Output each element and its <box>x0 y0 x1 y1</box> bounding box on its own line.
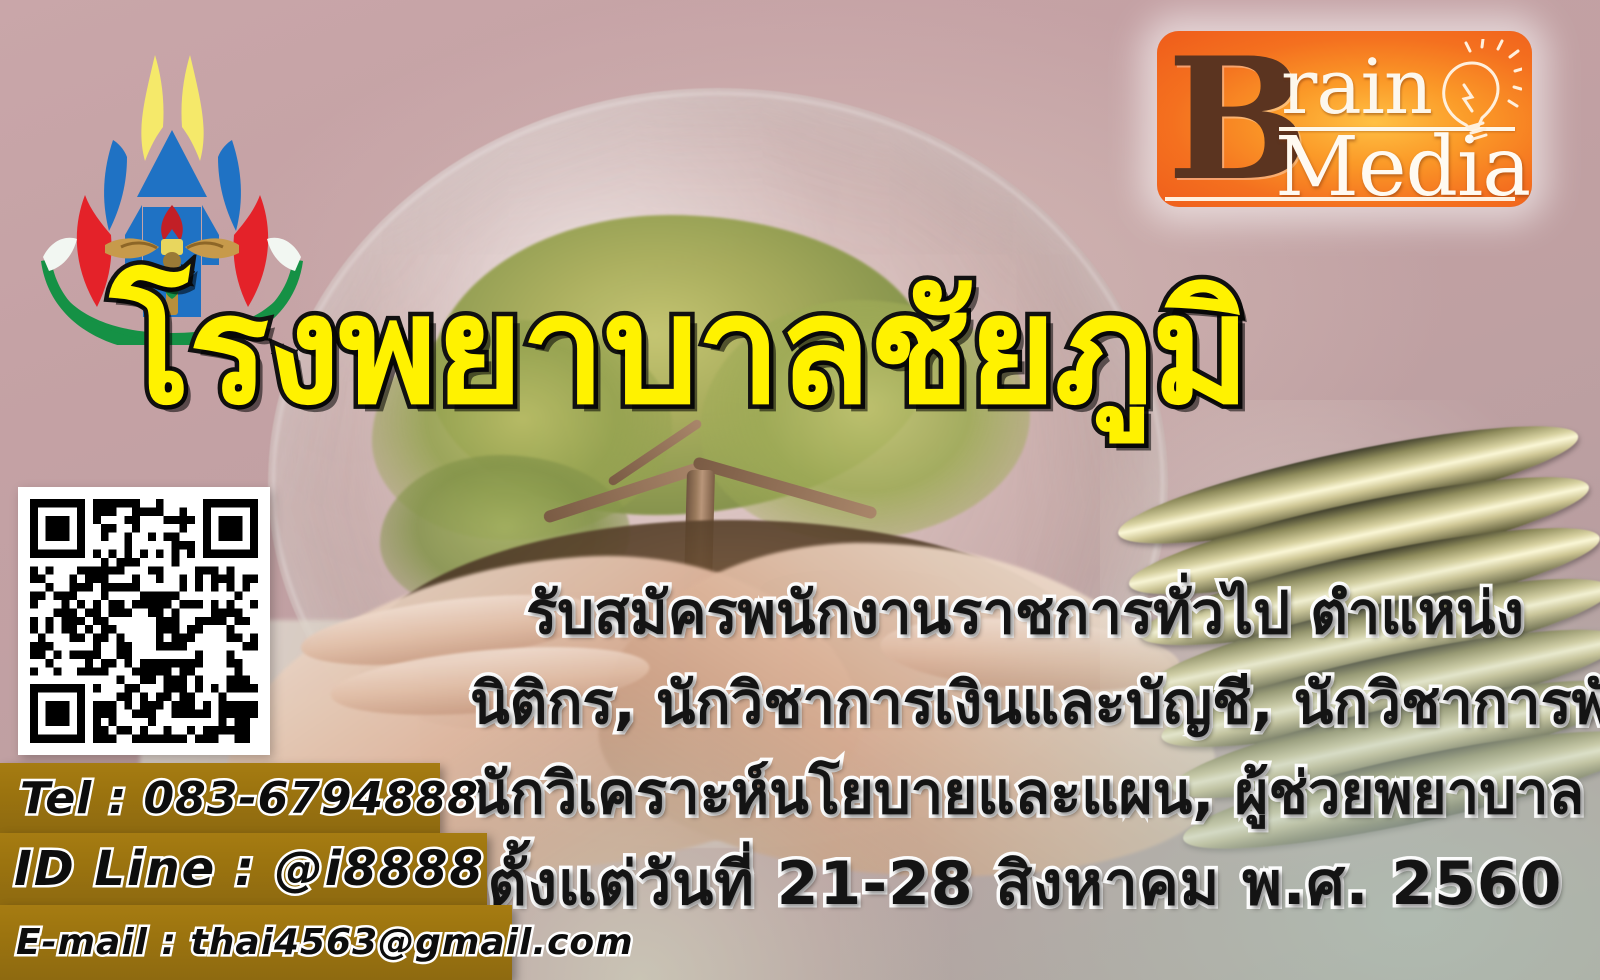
contact-bar-line-id[interactable]: ID Line : @i8888 <box>0 833 487 905</box>
brand-underline-rule <box>1165 197 1515 201</box>
announcement-line-2: นิติกร, นักวิชาการเงินและบัญชี, นักวิชาก… <box>470 658 1580 748</box>
announcement-line-4: ตั้งแต่วันที่ 21-28 สิงหาคม พ.ศ. 2560 <box>470 838 1580 930</box>
qr-code[interactable] <box>18 487 270 755</box>
announcement-line-1: รับสมัครพนักงานราชการทั่วไป ตำแหน่ง <box>470 568 1580 658</box>
brain-media-logo[interactable]: B rain Media <box>1157 31 1532 207</box>
qr-code-canvas <box>30 499 258 743</box>
contact-bar-email[interactable]: E-mail : thai4563@gmail.com <box>0 905 512 980</box>
contact-bar-telephone[interactable]: Tel : 083-6794888 <box>0 763 440 833</box>
announcement-line-3: นักวิเคราะห์นโยบายและแผน, ผู้ช่วยพยาบาล <box>470 748 1580 838</box>
email-text: E-mail : thai4563@gmail.com <box>16 922 634 963</box>
poster-canvas: B rain Media <box>0 0 1600 980</box>
lightbulb-icon <box>1414 39 1522 143</box>
telephone-text: Tel : 083-6794888 <box>20 773 479 824</box>
page-title: โรงพยาบาลชัยภูมิ <box>110 276 1510 426</box>
line-id-text: ID Line : @i8888 <box>14 841 485 897</box>
announcement-block: รับสมัครพนักงานราชการทั่วไป ตำแหน่ง นิติ… <box>470 568 1580 930</box>
brand-word-rain: rain <box>1281 49 1432 125</box>
